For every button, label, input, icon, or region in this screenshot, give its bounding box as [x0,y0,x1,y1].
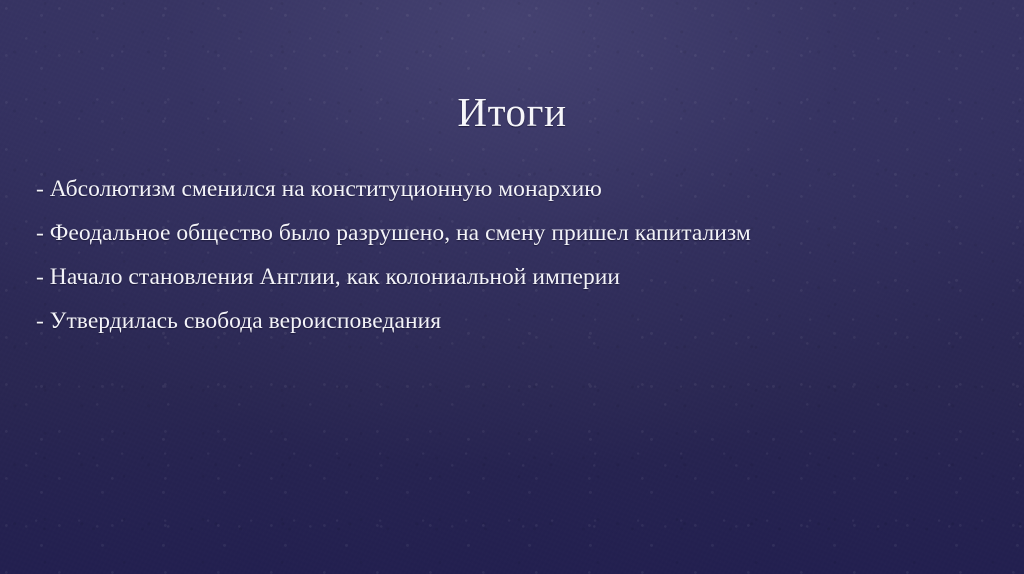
slide-body: - Абсолютизм сменился на конституционную… [36,167,984,343]
presentation-slide: Итоги - Абсолютизм сменился на конституц… [0,0,1024,574]
bullet-line: - Утвердилась свобода вероисповедания [36,299,984,343]
bullet-line: - Начало становления Англии, как колониа… [36,255,984,299]
slide-title: Итоги [0,90,1024,134]
bullet-line: - Абсолютизм сменился на конституционную… [36,167,984,211]
bullet-line: - Феодальное общество было разрушено, на… [36,211,984,255]
